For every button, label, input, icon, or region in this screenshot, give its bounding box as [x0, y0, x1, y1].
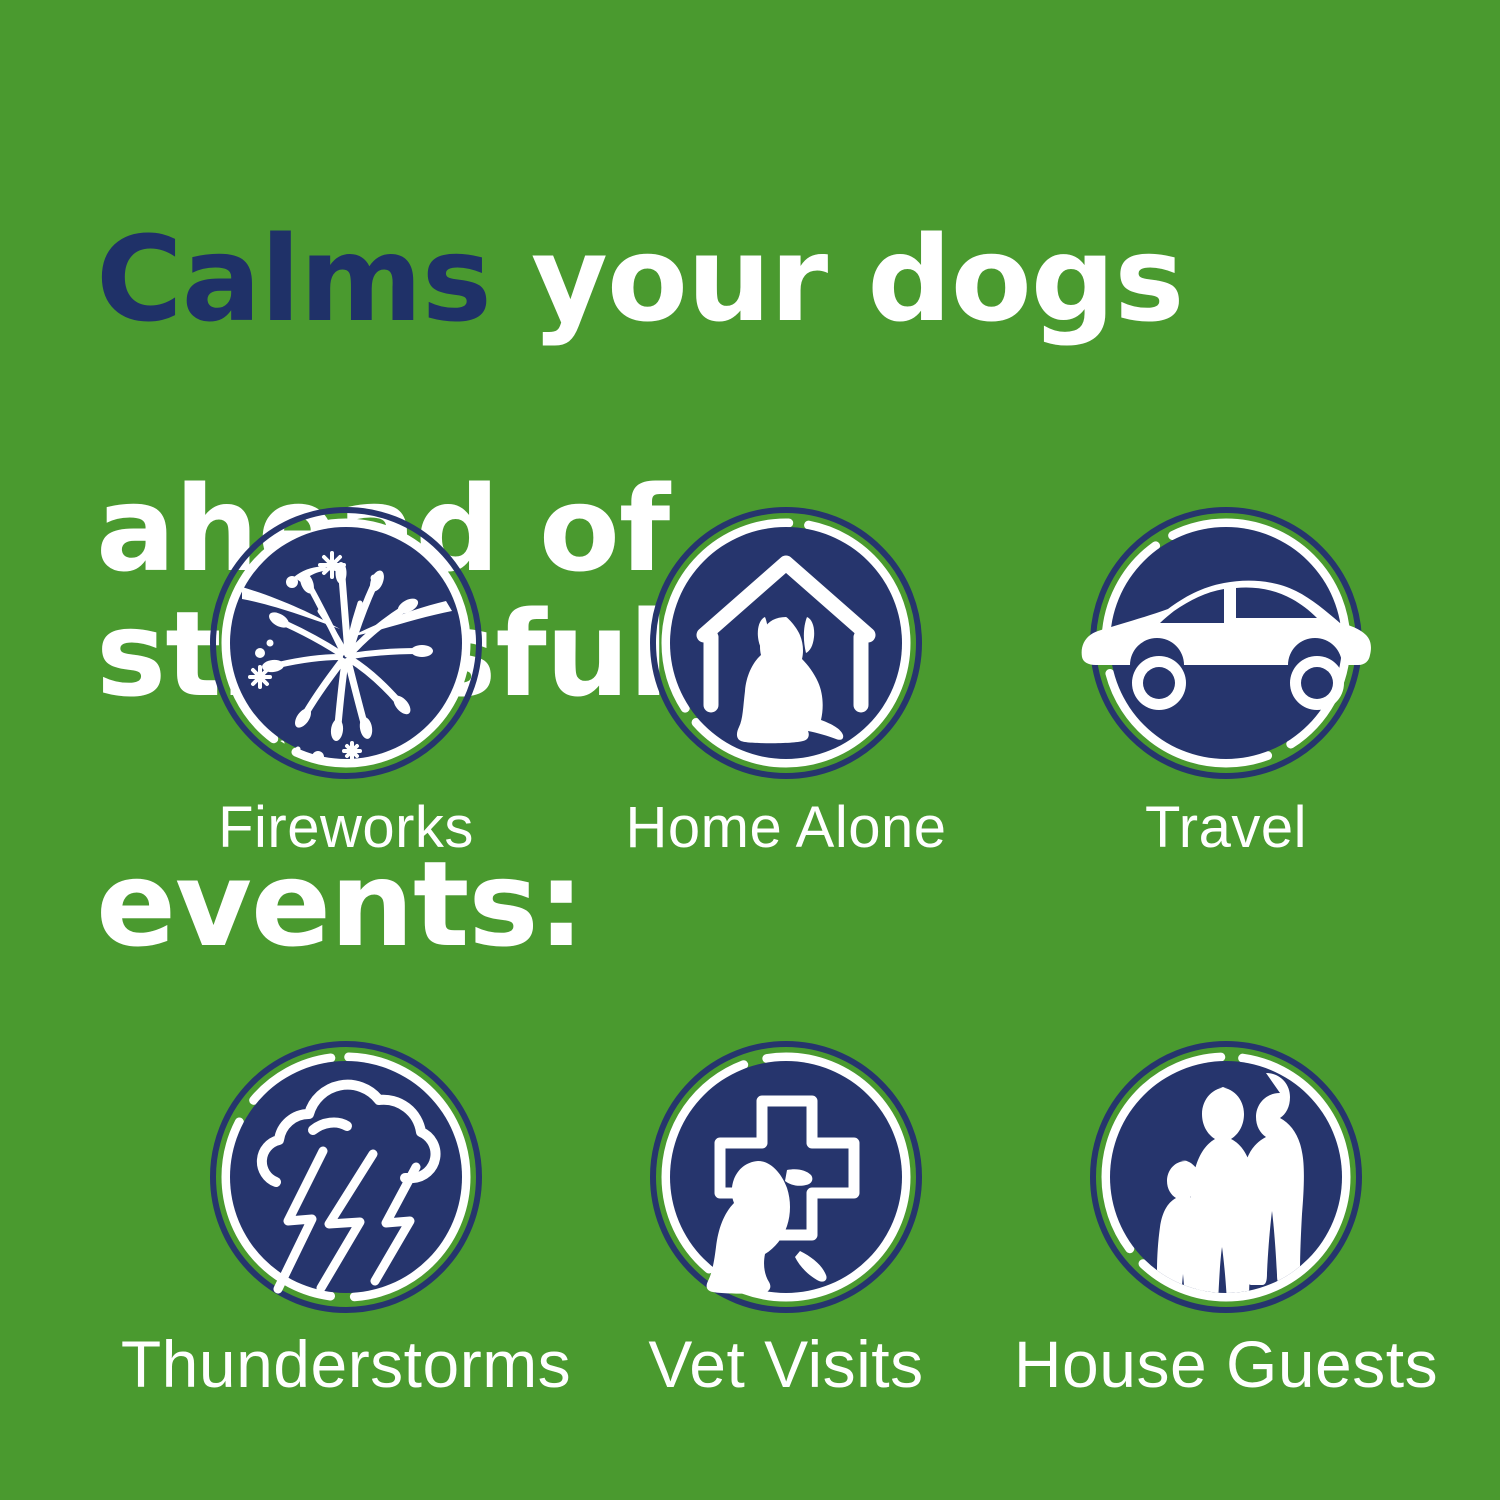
badge-label-house-guests: House Guests — [1014, 1329, 1438, 1399]
stress-event-thunderstorms[interactable]: Thunderstorms — [126, 1039, 566, 1399]
badge-label-vet-visits: Vet Visits — [648, 1329, 923, 1399]
stress-event-house-guests[interactable]: House Guests — [1006, 1039, 1446, 1399]
stress-event-vet-visits[interactable]: Vet Visits — [566, 1039, 1006, 1399]
family-silhouette-icon — [1088, 1039, 1364, 1315]
fireworks-badge[interactable] — [208, 505, 484, 781]
promo-page: Calms your dogs ahead of stressful event… — [0, 0, 1500, 1500]
badge-label-thunderstorms: Thunderstorms — [121, 1329, 571, 1399]
stress-event-fireworks[interactable]: Fireworks — [126, 505, 566, 859]
headline-line-1: Calms your dogs — [96, 217, 1216, 342]
house-guests-badge[interactable] — [1088, 1039, 1364, 1315]
house-dog-icon — [648, 505, 924, 781]
headline-accent-word: Calms — [96, 210, 491, 348]
home-alone-badge[interactable] — [648, 505, 924, 781]
vet-visits-badge[interactable] — [648, 1039, 924, 1315]
fireworks-icon — [208, 505, 484, 781]
badge-label-home-alone: Home Alone — [626, 797, 947, 859]
badge-label-travel: Travel — [1145, 797, 1307, 859]
stress-events-row-2: Thunderstorms — [0, 1039, 1500, 1399]
stress-event-travel[interactable]: Travel — [1006, 505, 1446, 859]
travel-badge[interactable] — [1088, 505, 1364, 781]
medical-cross-dog-icon — [648, 1039, 924, 1315]
stress-events-row-1: Fireworks — [0, 505, 1500, 859]
thunderstorms-badge[interactable] — [208, 1039, 484, 1315]
headline-line-1-rest: your dogs — [491, 210, 1184, 348]
stress-event-home-alone[interactable]: Home Alone — [566, 505, 1006, 859]
stress-events-grid: Fireworks — [0, 505, 1500, 1399]
badge-label-fireworks: Fireworks — [218, 797, 474, 859]
car-dog-icon — [1088, 505, 1364, 781]
storm-cloud-lightning-icon — [208, 1039, 484, 1315]
